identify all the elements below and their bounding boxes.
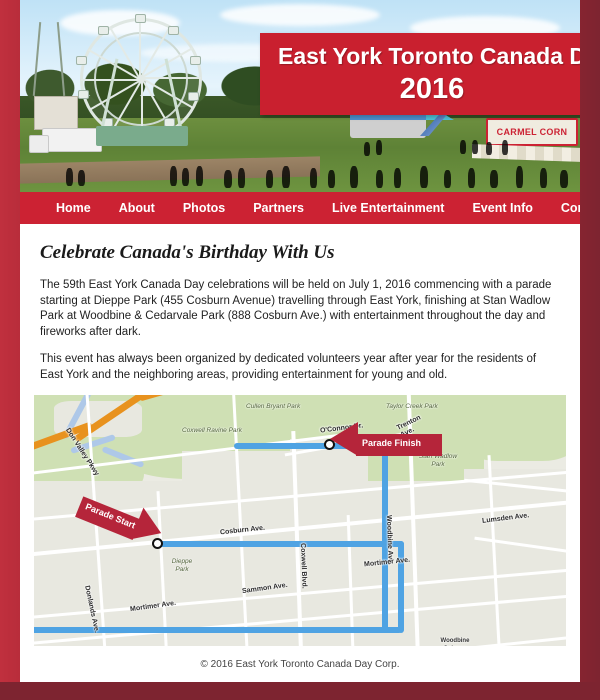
park-area [464,405,566,461]
ferris-wheel [80,18,202,140]
crowd-person [468,168,475,188]
crowd-person [182,168,189,186]
main-content: Celebrate Canada's Birthday With Us The … [20,224,580,383]
crowd-person [238,168,245,188]
crowd-person [376,140,382,155]
crowd-person [310,168,317,188]
crowd-person [78,170,85,186]
crowd-person [560,170,568,188]
intro-paragraph-1: The 59th East York Canada Day celebratio… [40,278,560,340]
event-title-line1: East York Toronto Canada Day [278,41,580,71]
map-label-cullen-bryant-park: Cullen Bryant Park [246,403,300,411]
nav-item-home[interactable]: Home [42,192,105,224]
nav-item-live-entertainment[interactable]: Live Entertainment [318,192,459,224]
crowd-person [540,168,547,188]
carmel-corn-sign: CARMEL CORN [486,118,578,146]
city-block [182,451,302,501]
nav-item-partners[interactable]: Partners [239,192,318,224]
nav-item-photos[interactable]: Photos [169,192,239,224]
nav-item-event-info[interactable]: Event Info [458,192,546,224]
crowd-person [486,142,492,155]
crowd-person [516,166,523,188]
crowd-person [196,166,203,186]
route-cosburn-segment [156,541,404,547]
map-label-taylor-creek-park: Taylor Creek Park [386,403,438,411]
map-label-dieppe-park: Dieppe Park [166,558,198,574]
copyright-text: © 2016 East York Toronto Canada Day Corp… [201,659,400,670]
crowd-person [444,170,451,188]
crowd-person [490,170,498,188]
crowd-person [394,168,401,188]
page-headline: Celebrate Canada's Birthday With Us [40,242,560,264]
crowd-person [282,166,290,188]
site-footer: © 2016 East York Toronto Canada Day Corp… [20,646,580,682]
crowd-person [420,166,428,188]
crowd-person [328,170,335,188]
site-container: CARMEL CORN East York Toronto Canada Day [20,0,580,682]
crowd-person [460,140,466,154]
crowd-person [170,166,177,186]
crowd-person [266,170,273,188]
crowd-person [376,170,383,188]
nav-item-about[interactable]: About [105,192,169,224]
crowd-person [502,140,508,155]
event-title-year: 2016 [278,71,580,107]
cloud [220,4,380,26]
hydro-pylon [30,22,70,96]
crowd-person [350,166,358,188]
intro-paragraph-2: This event has always been organized by … [40,352,560,383]
parade-finish-label: Parade Finish [362,438,421,448]
parade-route-map[interactable]: Parade Start Parade Finish Don Valley Pk… [34,395,566,682]
main-navigation: Home About Photos Partners Live Entertai… [20,192,580,224]
crowd-person [472,140,478,154]
page-bottom-border [0,682,600,700]
map-label-coxwell-ravine-park: Coxwell Ravine Park [182,427,242,435]
crowd-person [66,168,73,186]
parade-finish-arrow: Parade Finish [330,425,442,465]
background-house [34,96,78,130]
crowd-person [364,142,370,156]
route-sammon-segment [34,627,402,633]
nav-item-contact[interactable]: Contact [547,192,580,224]
event-title-banner: East York Toronto Canada Day 2016 [260,33,580,115]
crowd-person [224,170,232,188]
route-coxwell-segment [398,541,404,633]
